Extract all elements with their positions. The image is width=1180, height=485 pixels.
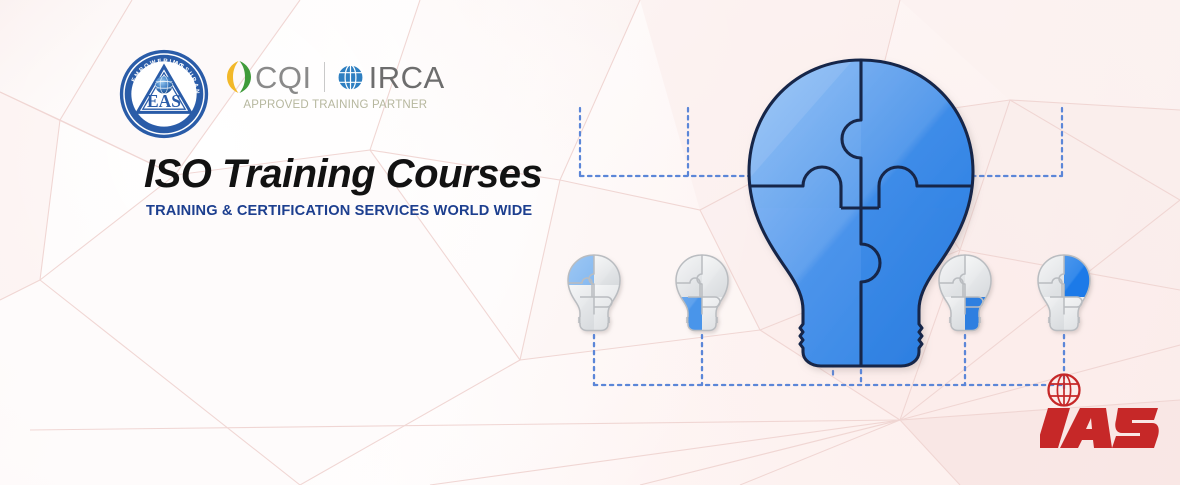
- small-lightbulb-2: [670, 252, 734, 336]
- irca-wordmark: IRCA: [369, 62, 445, 93]
- iso-training-courses-banner: EMPOWERING ASSURANCE SYSTEMS EA: [0, 0, 1180, 485]
- small-lightbulb-4: [1032, 252, 1096, 336]
- small-lightbulb-1: [562, 252, 626, 336]
- cqi-irca-logo: CQI IRCA APPROVED TRAINING PARTNER: [226, 60, 445, 111]
- page-subtitle: TRAINING & CERTIFICATION SERVICES WORLD …: [146, 203, 532, 219]
- cqi-irca-row: CQI IRCA: [226, 60, 445, 94]
- cqi-wordmark: CQI: [255, 62, 312, 93]
- small-lightbulb-3: [933, 252, 997, 336]
- accreditation-logo-row: EMPOWERING ASSURANCE SYSTEMS EA: [118, 48, 445, 140]
- irca-globe-icon: [337, 64, 364, 91]
- cqi-leaves-icon: [226, 60, 252, 94]
- eas-logo: EMPOWERING ASSURANCE SYSTEMS EA: [118, 48, 210, 140]
- main-lightbulb: [701, 28, 1001, 388]
- cqi-irca-divider: [324, 62, 325, 92]
- page-title: ISO Training Courses: [144, 152, 542, 197]
- ias-logo: [1040, 396, 1160, 458]
- ias-wordmark-shape: [1040, 408, 1159, 448]
- left-content-block: EMPOWERING ASSURANCE SYSTEMS EA: [0, 0, 540, 485]
- svg-text:EAS: EAS: [147, 91, 181, 111]
- approved-training-partner-label: APPROVED TRAINING PARTNER: [243, 99, 427, 111]
